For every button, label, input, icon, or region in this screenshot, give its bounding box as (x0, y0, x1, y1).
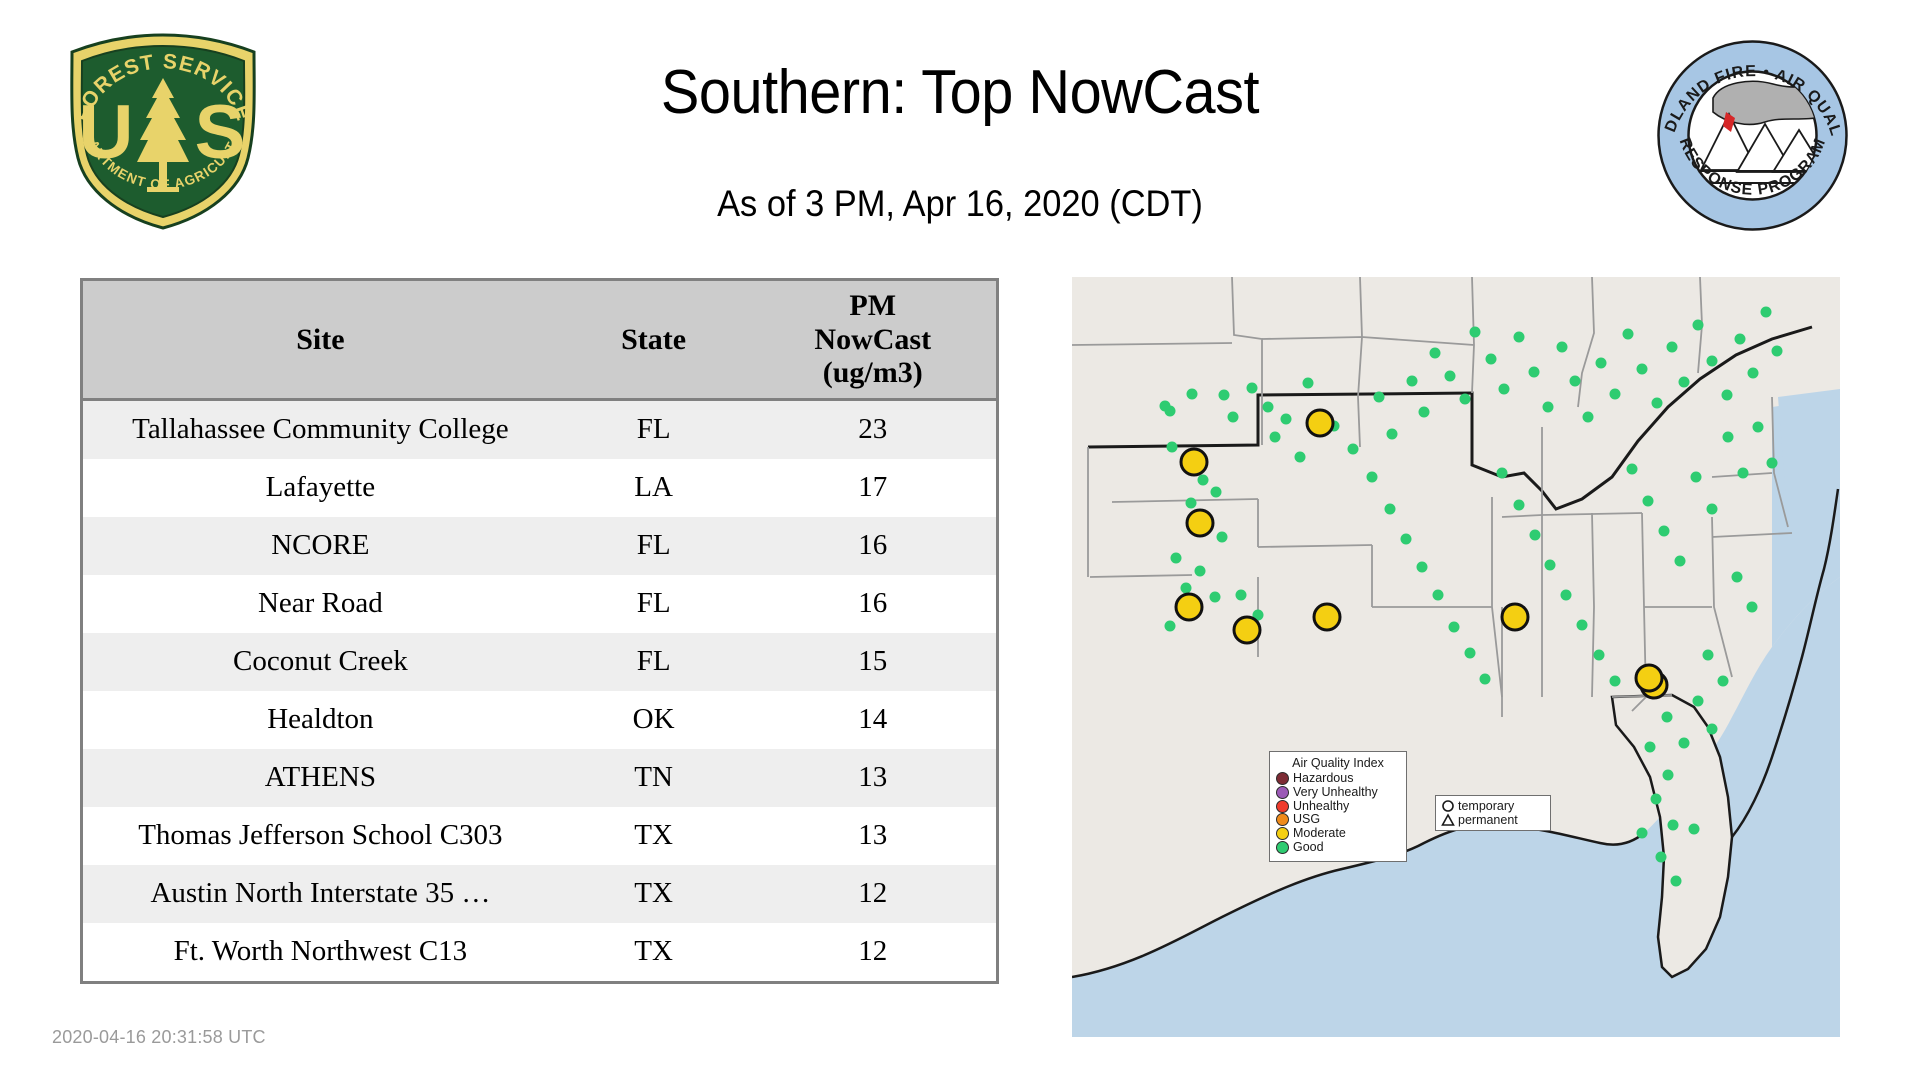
aqi-label-usg: USG (1293, 813, 1320, 826)
page-subtitle: As of 3 PM, Apr 16, 2020 (CDT) (67, 185, 1853, 222)
aqi-label-moderate: Moderate (1293, 827, 1346, 840)
good-aqi-marker[interactable] (1679, 738, 1690, 749)
site-type-label-permanent: permanent (1458, 813, 1518, 827)
moderate-aqi-marker[interactable] (1187, 510, 1213, 536)
cell-site: Near Road (83, 575, 558, 633)
good-aqi-marker[interactable] (1281, 414, 1292, 425)
good-aqi-marker[interactable] (1407, 376, 1418, 387)
good-aqi-marker[interactable] (1723, 432, 1734, 443)
good-aqi-marker[interactable] (1217, 532, 1228, 543)
cell-pm: 13 (749, 749, 996, 807)
cell-site: Lafayette (83, 459, 558, 517)
good-aqi-marker[interactable] (1651, 794, 1662, 805)
good-aqi-marker[interactable] (1772, 346, 1783, 357)
good-aqi-marker[interactable] (1295, 452, 1306, 463)
cell-site: Austin North Interstate 35 … (83, 865, 558, 923)
good-aqi-marker[interactable] (1662, 712, 1673, 723)
good-aqi-marker[interactable] (1445, 371, 1456, 382)
table-row: Ft. Worth Northwest C13 TX 12 (83, 923, 996, 981)
good-aqi-marker[interactable] (1210, 592, 1221, 603)
column-header-site-label: Site (296, 323, 344, 356)
table-row: Lafayette LA 17 (83, 459, 996, 517)
good-aqi-marker[interactable] (1656, 852, 1667, 863)
good-aqi-marker[interactable] (1387, 429, 1398, 440)
good-aqi-marker[interactable] (1545, 560, 1556, 571)
moderate-aqi-marker[interactable] (1307, 410, 1333, 436)
aqi-label-hazardous: Hazardous (1293, 772, 1353, 785)
good-aqi-marker[interactable] (1367, 472, 1378, 483)
cell-state: FL (558, 517, 750, 575)
aqi-label-good: Good (1293, 841, 1324, 854)
cell-state: FL (558, 399, 750, 459)
good-aqi-marker[interactable] (1417, 562, 1428, 573)
cell-pm: 16 (749, 517, 996, 575)
cell-site: NCORE (83, 517, 558, 575)
table-row: Near Road FL 16 (83, 575, 996, 633)
cell-state: FL (558, 575, 750, 633)
good-aqi-marker[interactable] (1643, 496, 1654, 507)
good-aqi-marker[interactable] (1470, 327, 1481, 338)
moderate-aqi-marker[interactable] (1636, 665, 1662, 691)
cell-state: TX (558, 807, 750, 865)
aqi-swatch-hazardous (1276, 772, 1289, 785)
good-aqi-marker[interactable] (1195, 566, 1206, 577)
good-aqi-marker[interactable] (1637, 364, 1648, 375)
good-aqi-marker[interactable] (1610, 389, 1621, 400)
good-aqi-marker[interactable] (1718, 676, 1729, 687)
good-aqi-marker[interactable] (1514, 332, 1525, 343)
good-aqi-marker[interactable] (1433, 590, 1444, 601)
good-aqi-marker[interactable] (1577, 620, 1588, 631)
column-header-state: State (558, 281, 750, 399)
site-type-legend: temporary permanent (1435, 795, 1551, 831)
aqi-swatch-usg (1276, 813, 1289, 826)
column-header-pm-nowcast: PM NowCast (ug/m3) (749, 281, 996, 399)
good-aqi-marker[interactable] (1181, 583, 1192, 594)
column-header-pm-line2: NowCast (814, 323, 931, 356)
good-aqi-marker[interactable] (1263, 402, 1274, 413)
cell-pm: 16 (749, 575, 996, 633)
good-aqi-marker[interactable] (1480, 674, 1491, 685)
aqi-legend-item-usg: USG (1276, 813, 1400, 826)
cell-state: FL (558, 633, 750, 691)
good-aqi-marker[interactable] (1691, 472, 1702, 483)
site-type-item-permanent: permanent (1441, 813, 1545, 827)
good-aqi-marker[interactable] (1735, 334, 1746, 345)
table-row: Austin North Interstate 35 … TX 12 (83, 865, 996, 923)
table-row: ATHENS TN 13 (83, 749, 996, 807)
good-aqi-marker[interactable] (1645, 742, 1656, 753)
good-aqi-marker[interactable] (1637, 828, 1648, 839)
good-aqi-marker[interactable] (1748, 368, 1759, 379)
good-aqi-marker[interactable] (1722, 390, 1733, 401)
aqi-swatch-good (1276, 841, 1289, 854)
good-aqi-marker[interactable] (1419, 407, 1430, 418)
good-aqi-marker[interactable] (1761, 307, 1772, 318)
cell-site: ATHENS (83, 749, 558, 807)
good-aqi-marker[interactable] (1270, 432, 1281, 443)
aqi-legend-item-moderate: Moderate (1276, 827, 1400, 840)
cell-state: LA (558, 459, 750, 517)
moderate-aqi-marker[interactable] (1314, 604, 1340, 630)
good-aqi-marker[interactable] (1703, 650, 1714, 661)
map-canvas (1072, 277, 1840, 1037)
aqi-legend-item-very-unhealthy: Very Unhealthy (1276, 786, 1400, 799)
aqi-legend-title: Air Quality Index (1276, 756, 1400, 770)
good-aqi-marker[interactable] (1707, 504, 1718, 515)
good-aqi-marker[interactable] (1228, 412, 1239, 423)
good-aqi-marker[interactable] (1198, 475, 1209, 486)
good-aqi-marker[interactable] (1659, 526, 1670, 537)
aqi-swatch-unhealthy (1276, 800, 1289, 813)
good-aqi-marker[interactable] (1732, 572, 1743, 583)
good-aqi-marker[interactable] (1693, 696, 1704, 707)
good-aqi-marker[interactable] (1671, 876, 1682, 887)
good-aqi-marker[interactable] (1570, 376, 1581, 387)
aqi-swatch-moderate (1276, 827, 1289, 840)
cell-site: Healdton (83, 691, 558, 749)
good-aqi-marker[interactable] (1236, 590, 1247, 601)
site-type-item-temporary: temporary (1441, 799, 1545, 813)
good-aqi-marker[interactable] (1557, 342, 1568, 353)
moderate-aqi-marker[interactable] (1181, 449, 1207, 475)
top-nowcast-table: Site State PM NowCast (ug/m3) Tallahasse… (80, 278, 999, 984)
column-header-pm-line1: PM (849, 289, 896, 322)
column-header-pm-line3: (ug/m3) (823, 356, 923, 389)
cell-pm: 14 (749, 691, 996, 749)
cell-state: TX (558, 865, 750, 923)
circle-outline-icon (1441, 799, 1455, 813)
moderate-aqi-marker[interactable] (1234, 617, 1260, 643)
aqi-legend-item-good: Good (1276, 841, 1400, 854)
cell-pm: 23 (749, 399, 996, 459)
table-header-row: Site State PM NowCast (ug/m3) (83, 281, 996, 399)
good-aqi-marker[interactable] (1610, 676, 1621, 687)
cell-pm: 13 (749, 807, 996, 865)
good-aqi-marker[interactable] (1499, 384, 1510, 395)
table-row: Tallahassee Community College FL 23 (83, 399, 996, 459)
good-aqi-marker[interactable] (1594, 650, 1605, 661)
good-aqi-marker[interactable] (1497, 468, 1508, 479)
good-aqi-marker[interactable] (1693, 320, 1704, 331)
good-aqi-marker[interactable] (1165, 621, 1176, 632)
table-row: Coconut Creek FL 15 (83, 633, 996, 691)
cell-pm: 17 (749, 459, 996, 517)
good-aqi-marker[interactable] (1543, 402, 1554, 413)
good-aqi-marker[interactable] (1652, 398, 1663, 409)
cell-state: OK (558, 691, 750, 749)
good-aqi-marker[interactable] (1171, 553, 1182, 564)
good-aqi-marker[interactable] (1667, 342, 1678, 353)
cell-state: TX (558, 923, 750, 981)
good-aqi-marker[interactable] (1449, 622, 1460, 633)
cell-pm: 12 (749, 865, 996, 923)
good-aqi-marker[interactable] (1663, 770, 1674, 781)
good-aqi-marker[interactable] (1514, 500, 1525, 511)
good-aqi-marker[interactable] (1167, 442, 1178, 453)
good-aqi-marker[interactable] (1707, 356, 1718, 367)
cell-site: Coconut Creek (83, 633, 558, 691)
aqi-legend-item-hazardous: Hazardous (1276, 772, 1400, 785)
site-type-label-temporary: temporary (1458, 799, 1514, 813)
good-aqi-marker[interactable] (1561, 590, 1572, 601)
good-aqi-marker[interactable] (1303, 378, 1314, 389)
cell-state: TN (558, 749, 750, 807)
good-aqi-marker[interactable] (1675, 556, 1686, 567)
air-quality-map[interactable]: Air Quality Index Hazardous Very Unhealt… (1072, 277, 1840, 1037)
good-aqi-marker[interactable] (1465, 648, 1476, 659)
good-aqi-marker[interactable] (1486, 354, 1497, 365)
generated-timestamp: 2020-04-16 20:31:58 UTC (52, 1027, 266, 1048)
cell-pm: 12 (749, 923, 996, 981)
good-aqi-marker[interactable] (1529, 367, 1540, 378)
aqi-legend-item-unhealthy: Unhealthy (1276, 800, 1400, 813)
good-aqi-marker[interactable] (1348, 444, 1359, 455)
good-aqi-marker[interactable] (1187, 389, 1198, 400)
good-aqi-marker[interactable] (1385, 504, 1396, 515)
cell-site: Ft. Worth Northwest C13 (83, 923, 558, 981)
good-aqi-marker[interactable] (1707, 724, 1718, 735)
good-aqi-marker[interactable] (1583, 412, 1594, 423)
column-header-state-label: State (621, 323, 686, 356)
table-row: Healdton OK 14 (83, 691, 996, 749)
good-aqi-marker[interactable] (1623, 329, 1634, 340)
good-aqi-marker[interactable] (1186, 498, 1197, 509)
good-aqi-marker[interactable] (1596, 358, 1607, 369)
cell-pm: 15 (749, 633, 996, 691)
good-aqi-marker[interactable] (1165, 406, 1176, 417)
cell-site: Tallahassee Community College (83, 399, 558, 459)
good-aqi-marker[interactable] (1219, 390, 1230, 401)
good-aqi-marker[interactable] (1753, 422, 1764, 433)
aqi-label-very-unhealthy: Very Unhealthy (1293, 786, 1378, 799)
column-header-site: Site (83, 281, 558, 399)
table-row: Thomas Jefferson School C303 TX 13 (83, 807, 996, 865)
moderate-aqi-marker[interactable] (1502, 604, 1528, 630)
cell-site: Thomas Jefferson School C303 (83, 807, 558, 865)
good-aqi-marker[interactable] (1374, 392, 1385, 403)
good-aqi-marker[interactable] (1247, 383, 1258, 394)
page-title: Southern: Top NowCast (67, 62, 1853, 124)
good-aqi-marker[interactable] (1401, 534, 1412, 545)
good-aqi-marker[interactable] (1679, 377, 1690, 388)
aqi-swatch-very-unhealthy (1276, 786, 1289, 799)
aqi-legend: Air Quality Index Hazardous Very Unhealt… (1269, 751, 1407, 862)
good-aqi-marker[interactable] (1689, 824, 1700, 835)
good-aqi-marker[interactable] (1738, 468, 1749, 479)
good-aqi-marker[interactable] (1668, 820, 1679, 831)
moderate-aqi-marker[interactable] (1176, 594, 1202, 620)
good-aqi-marker[interactable] (1460, 394, 1471, 405)
table-row: NCORE FL 16 (83, 517, 996, 575)
good-aqi-marker[interactable] (1211, 487, 1222, 498)
good-aqi-marker[interactable] (1627, 464, 1638, 475)
aqi-label-unhealthy: Unhealthy (1293, 800, 1349, 813)
good-aqi-marker[interactable] (1767, 458, 1778, 469)
triangle-outline-icon (1441, 813, 1455, 827)
good-aqi-marker[interactable] (1530, 530, 1541, 541)
good-aqi-marker[interactable] (1430, 348, 1441, 359)
good-aqi-marker[interactable] (1747, 602, 1758, 613)
